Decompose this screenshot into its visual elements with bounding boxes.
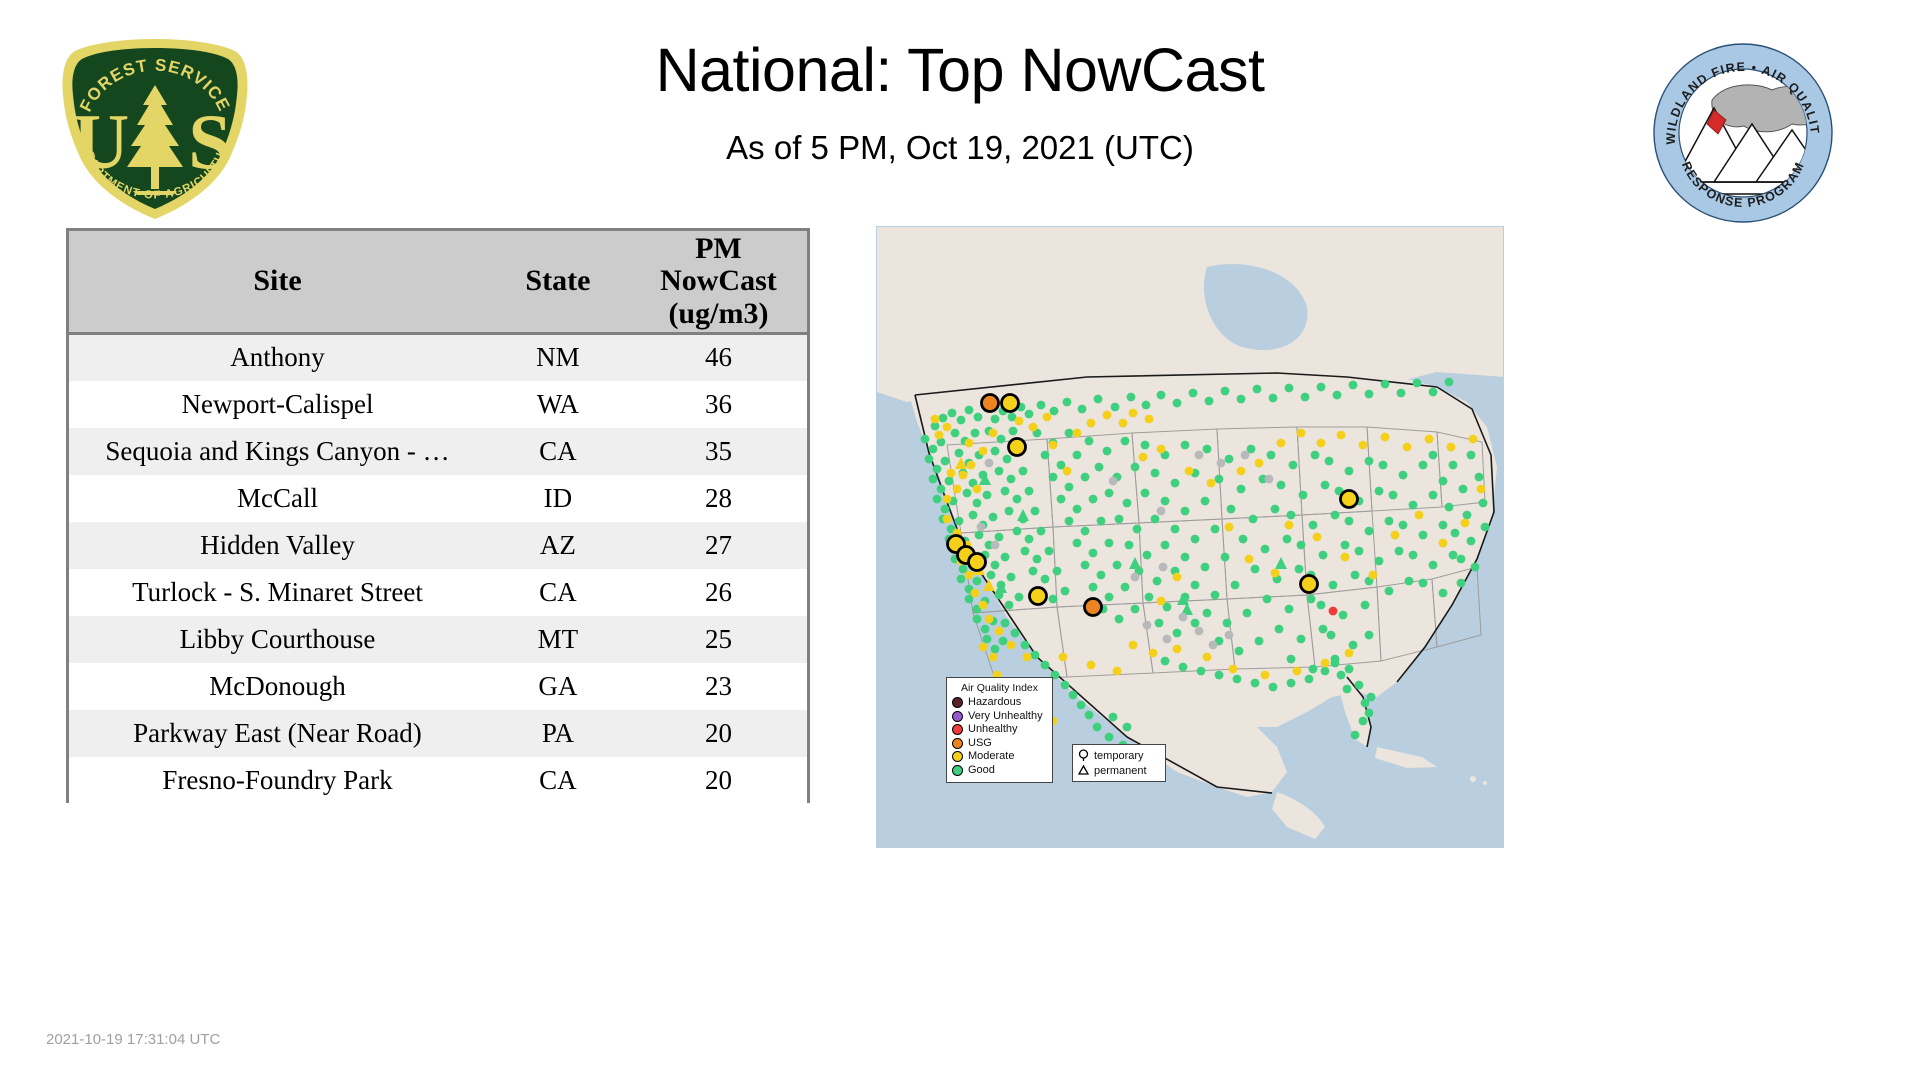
site-type-item-temporary[interactable]: temporary [1077,748,1161,763]
cell-state: NM [486,334,630,381]
cell-state: CA [486,428,630,475]
cell-pm: 20 [630,710,807,757]
table-row[interactable]: Fresno-Foundry Park CA 20 [69,757,807,804]
cell-pm: 20 [630,757,807,804]
aqi-label-hazardous: Hazardous [968,697,1021,708]
cell-pm: 35 [630,428,807,475]
page-header: FOREST SERVICE DEPARTMENT OF AGRICULTURE… [0,0,1920,225]
cell-pm: 36 [630,381,807,428]
table-row[interactable]: Newport-Calispel WA 36 [69,381,807,428]
site-type-item-permanent[interactable]: permanent [1077,763,1161,778]
aqi-legend-title: Air Quality Index [952,682,1047,694]
table-row[interactable]: Anthony NM 46 [69,334,807,381]
top-site-marker-hidden-valley [1030,588,1047,605]
top-site-marker-mccall [1009,439,1026,456]
wildland-fire-air-quality-response-program-icon: WILDLAND FIRE • AIR QUALITY RESPONSE PRO… [1652,42,1834,224]
cell-site: Parkway East (Near Road) [69,710,486,757]
site-type-legend[interactable]: temporary permanent [1072,744,1166,782]
cell-site: Newport-Calispel [69,381,486,428]
cell-pm: 46 [630,334,807,381]
cell-state: GA [486,663,630,710]
cell-site: McCall [69,475,486,522]
cell-state: CA [486,757,630,804]
top-site-marker-newport-calispel [982,395,999,412]
table-row[interactable]: McDonough GA 23 [69,663,807,710]
cell-state: CA [486,569,630,616]
aqi-swatch-moderate [952,751,963,762]
cell-state: ID [486,475,630,522]
site-type-label-temporary: temporary [1094,750,1144,762]
table-row[interactable]: Turlock - S. Minaret Street CA 26 [69,569,807,616]
aqi-label-unhealthy: Unhealthy [968,724,1018,735]
cell-pm: 23 [630,663,807,710]
cell-state: PA [486,710,630,757]
site-type-label-permanent: permanent [1094,765,1147,777]
cell-site: Anthony [69,334,486,381]
cell-site: Sequoia and Kings Canyon - … [69,428,486,475]
aqi-label-good: Good [968,765,995,776]
cell-site: McDonough [69,663,486,710]
aqi-label-moderate: Moderate [968,751,1014,762]
svg-text:U: U [73,98,129,185]
air-quality-map[interactable]: Air Quality Index Hazardous Very Unhealt… [876,226,1504,848]
cell-state: MT [486,616,630,663]
aqi-legend-item-moderate[interactable]: Moderate [952,750,1047,764]
cell-state: AZ [486,522,630,569]
aqi-swatch-usg [952,738,963,749]
aqi-swatch-unhealthy [952,724,963,735]
aqi-legend-item-very-unhealthy[interactable]: Very Unhealthy [952,710,1047,724]
triangle-monitor-icon [1077,764,1090,777]
top-site-marker-mcdonough [1301,576,1318,593]
aqi-label-usg: USG [968,738,992,749]
top-site-marker-sequoia-kings-canyon [969,554,986,571]
cell-pm: 25 [630,616,807,663]
aqi-swatch-very-unhealthy [952,711,963,722]
cell-pm: 26 [630,569,807,616]
top-nowcast-table: Site State PM NowCast (ug/m3) Anthony NM… [69,231,807,804]
aqi-legend[interactable]: Air Quality Index Hazardous Very Unhealt… [946,677,1053,783]
table-row[interactable]: Hidden Valley AZ 27 [69,522,807,569]
cell-site: Turlock - S. Minaret Street [69,569,486,616]
aqi-legend-item-unhealthy[interactable]: Unhealthy [952,723,1047,737]
aqi-legend-item-usg[interactable]: USG [952,737,1047,751]
cell-state: WA [486,381,630,428]
table-header: Site State PM NowCast (ug/m3) [69,231,807,334]
aqi-swatch-good [952,765,963,776]
column-header-state[interactable]: State [486,231,630,334]
map-land-island [1470,776,1476,782]
aqi-legend-item-good[interactable]: Good [952,764,1047,778]
cell-site: Libby Courthouse [69,616,486,663]
cell-pm: 28 [630,475,807,522]
page-subtitle: As of 5 PM, Oct 19, 2021 (UTC) [300,129,1620,167]
aqi-legend-item-hazardous[interactable]: Hazardous [952,696,1047,710]
cell-site: Fresno-Foundry Park [69,757,486,804]
page-title: National: Top NowCast [300,40,1620,101]
table-row[interactable]: Sequoia and Kings Canyon - … CA 35 [69,428,807,475]
cell-site: Hidden Valley [69,522,486,569]
circle-monitor-icon [1077,749,1090,762]
table-body: Anthony NM 46 Newport-Calispel WA 36 Seq… [69,334,807,804]
footer-timestamp: 2021-10-19 17:31:04 UTC [46,1031,220,1048]
top-nowcast-table-panel: Site State PM NowCast (ug/m3) Anthony NM… [66,228,810,803]
title-block: National: Top NowCast As of 5 PM, Oct 19… [300,40,1620,167]
top-site-marker-anthony [1085,599,1102,616]
table-row[interactable]: McCall ID 28 [69,475,807,522]
top-site-marker-wa [1002,395,1019,412]
column-header-site[interactable]: Site [69,231,486,334]
table-row[interactable]: Libby Courthouse MT 25 [69,616,807,663]
aqi-label-very-unhealthy: Very Unhealthy [968,711,1043,722]
top-site-marker-parkway-east [1341,491,1358,508]
table-row[interactable]: Parkway East (Near Road) PA 20 [69,710,807,757]
map-land-island [1483,781,1487,785]
column-header-pm-nowcast[interactable]: PM NowCast (ug/m3) [630,231,807,334]
table-header-row: Site State PM NowCast (ug/m3) [69,231,807,334]
aqi-swatch-hazardous [952,697,963,708]
cell-pm: 27 [630,522,807,569]
svg-text:S: S [188,98,231,185]
usfs-shield-icon: FOREST SERVICE DEPARTMENT OF AGRICULTURE… [55,33,255,223]
